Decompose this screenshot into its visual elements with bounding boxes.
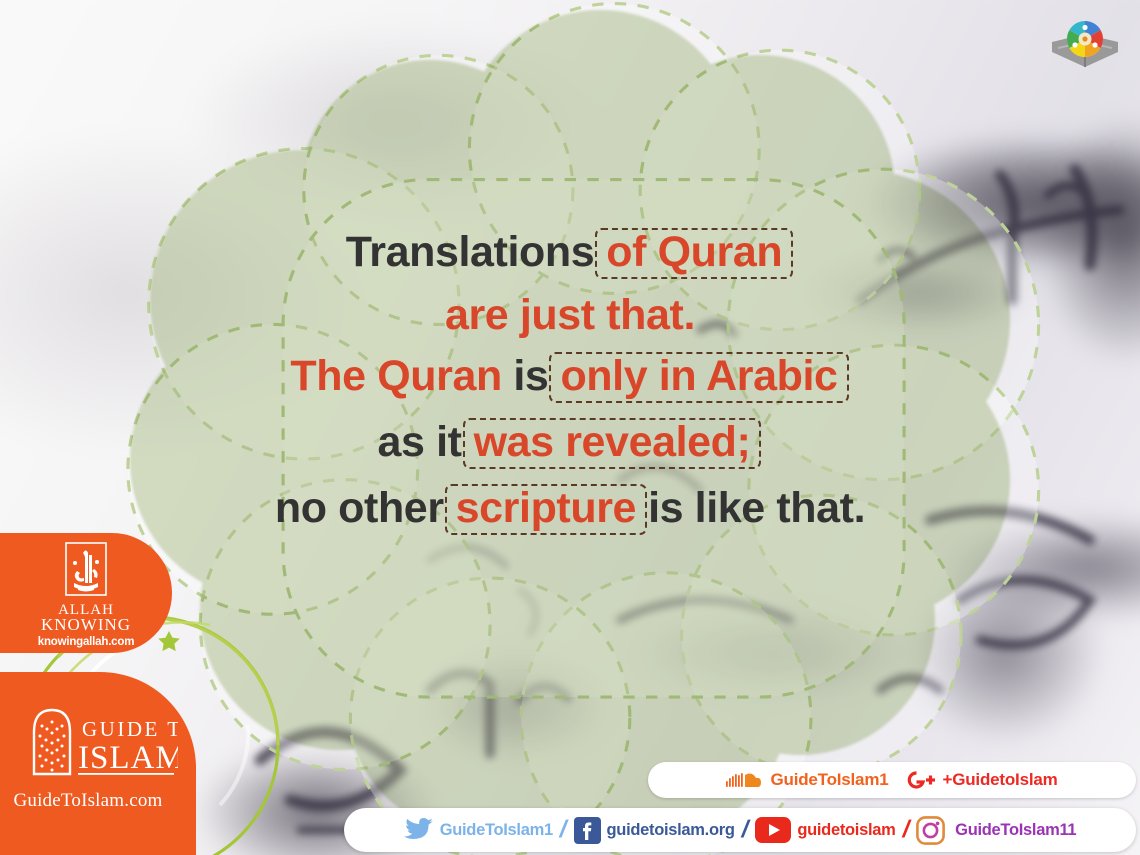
- social-links-bar: GuideToIslam1 / guidetoislam.org / guide…: [344, 808, 1136, 852]
- quote-line-1: Translationsof Quran: [0, 228, 1140, 279]
- twitter-link[interactable]: GuideToIslam1: [404, 817, 553, 843]
- gti-url: GuideToIslam.com: [0, 790, 176, 812]
- guide-to-islam-badge[interactable]: GUIDE TO ISLAM GuideToIslam.com: [0, 672, 196, 855]
- google-plus-link[interactable]: +GuidetoIslam: [905, 768, 1058, 792]
- youtube-label: guidetoislam: [797, 821, 895, 840]
- star-icon: [158, 631, 180, 651]
- google-plus-label: +GuidetoIslam: [943, 770, 1058, 790]
- quote-line-4: as itwas revealed;: [0, 418, 1140, 469]
- quote-seg: is: [513, 352, 548, 400]
- youtube-link[interactable]: guidetoislam: [755, 817, 895, 843]
- instagram-link[interactable]: GuideToIslam11: [916, 816, 1076, 845]
- quote-seg: The Quran: [290, 352, 501, 400]
- quote-line-2: are just that.: [0, 294, 1140, 337]
- quote-highlight: only in Arabic: [549, 352, 848, 403]
- facebook-icon: [574, 817, 601, 844]
- quote-highlight: of Quran: [595, 228, 793, 279]
- twitter-label: GuideToIslam1: [440, 821, 553, 840]
- quote-highlight: was revealed;: [463, 418, 762, 469]
- google-plus-icon: [905, 768, 935, 792]
- separator: /: [557, 816, 570, 844]
- badge-url: knowingallah.com: [38, 636, 134, 648]
- guide-to-islam-arch-logo: GUIDE TO ISLAM: [28, 706, 178, 780]
- facebook-link[interactable]: guidetoislam.org: [574, 817, 735, 844]
- facebook-label: guidetoislam.org: [607, 821, 735, 840]
- guide-to-islam-globe-book-logo[interactable]: [1046, 12, 1124, 74]
- instagram-label: GuideToIslam11: [955, 821, 1076, 840]
- gti-line-2: ISLAM: [78, 740, 178, 776]
- gti-line-1: GUIDE TO: [82, 717, 178, 741]
- quote-seg: is like that.: [648, 484, 865, 532]
- soundcloud-icon: [726, 770, 762, 790]
- secondary-social-pill: GuideToIslam1 +GuidetoIslam: [648, 762, 1136, 798]
- quote-seg: Translations: [346, 228, 595, 276]
- allah-calligraphy-icon: [58, 541, 114, 603]
- soundcloud-link[interactable]: GuideToIslam1: [726, 770, 888, 790]
- quote-seg: are just that.: [445, 291, 695, 339]
- separator: /: [900, 816, 913, 844]
- instagram-icon: [916, 816, 945, 845]
- badge-line-2: KNOWING: [41, 616, 131, 633]
- quote-seg: no other: [275, 484, 444, 532]
- twitter-icon: [404, 817, 434, 843]
- soundcloud-label: GuideToIslam1: [770, 770, 888, 790]
- quote-highlight: scripture: [445, 484, 647, 535]
- quote-seg: as it: [378, 418, 462, 466]
- quote-line-3: The Quran isonly in Arabic: [0, 352, 1140, 403]
- quote-block: Translationsof Quran are just that. The …: [0, 228, 1140, 535]
- separator: /: [739, 816, 752, 844]
- knowing-allah-badge[interactable]: ALLAH KNOWING knowingallah.com: [0, 533, 172, 653]
- quote-line-5: no otherscriptureis like that.: [0, 484, 1140, 535]
- youtube-icon: [755, 817, 791, 843]
